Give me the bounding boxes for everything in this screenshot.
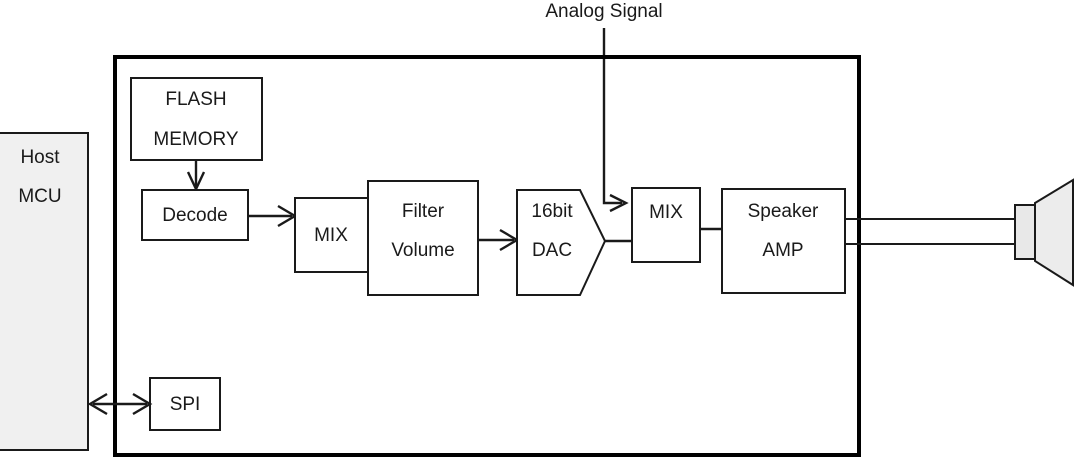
flash-memory-label-line1: FLASH — [165, 89, 226, 110]
flash-to-decode-arrow — [188, 160, 204, 189]
filter-volume-block[interactable] — [368, 181, 478, 295]
host-mcu-to-spi-bidirectional-arrow — [90, 394, 150, 414]
host-mcu-label-line2: MCU — [18, 186, 61, 207]
mix-2-label: MIX — [649, 202, 683, 223]
filter-to-dac-arrow — [478, 230, 517, 250]
speaker-magnet — [1015, 205, 1035, 259]
host-mcu-block[interactable] — [0, 133, 88, 450]
dac-label-line1: 16bit — [531, 201, 573, 222]
filter-volume-label-line1: Filter — [402, 201, 445, 222]
spi-label: SPI — [170, 394, 201, 415]
diagram-canvas: Analog Signal Host MCU FLASH MEMORY Deco… — [0, 0, 1080, 460]
speaker-cone — [1035, 180, 1073, 285]
analog-signal-label: Analog Signal — [545, 1, 662, 22]
speaker-amp-label-line1: Speaker — [748, 201, 819, 222]
filter-volume-label-line2: Volume — [391, 240, 454, 261]
dac-label-line2: DAC — [532, 240, 572, 261]
host-mcu-label-line1: Host — [20, 147, 60, 168]
mix-2-block[interactable] — [632, 188, 700, 262]
speaker-amp-to-speaker-wires — [845, 219, 1016, 244]
speaker-icon — [1015, 180, 1073, 285]
decode-label: Decode — [162, 205, 228, 226]
decode-to-mix1-arrow — [248, 206, 295, 226]
flash-memory-label-line2: MEMORY — [153, 129, 238, 150]
block-diagram: Analog Signal Host MCU FLASH MEMORY Deco… — [0, 0, 1080, 460]
speaker-amp-label-line2: AMP — [762, 240, 803, 261]
mix-1-label: MIX — [314, 225, 348, 246]
